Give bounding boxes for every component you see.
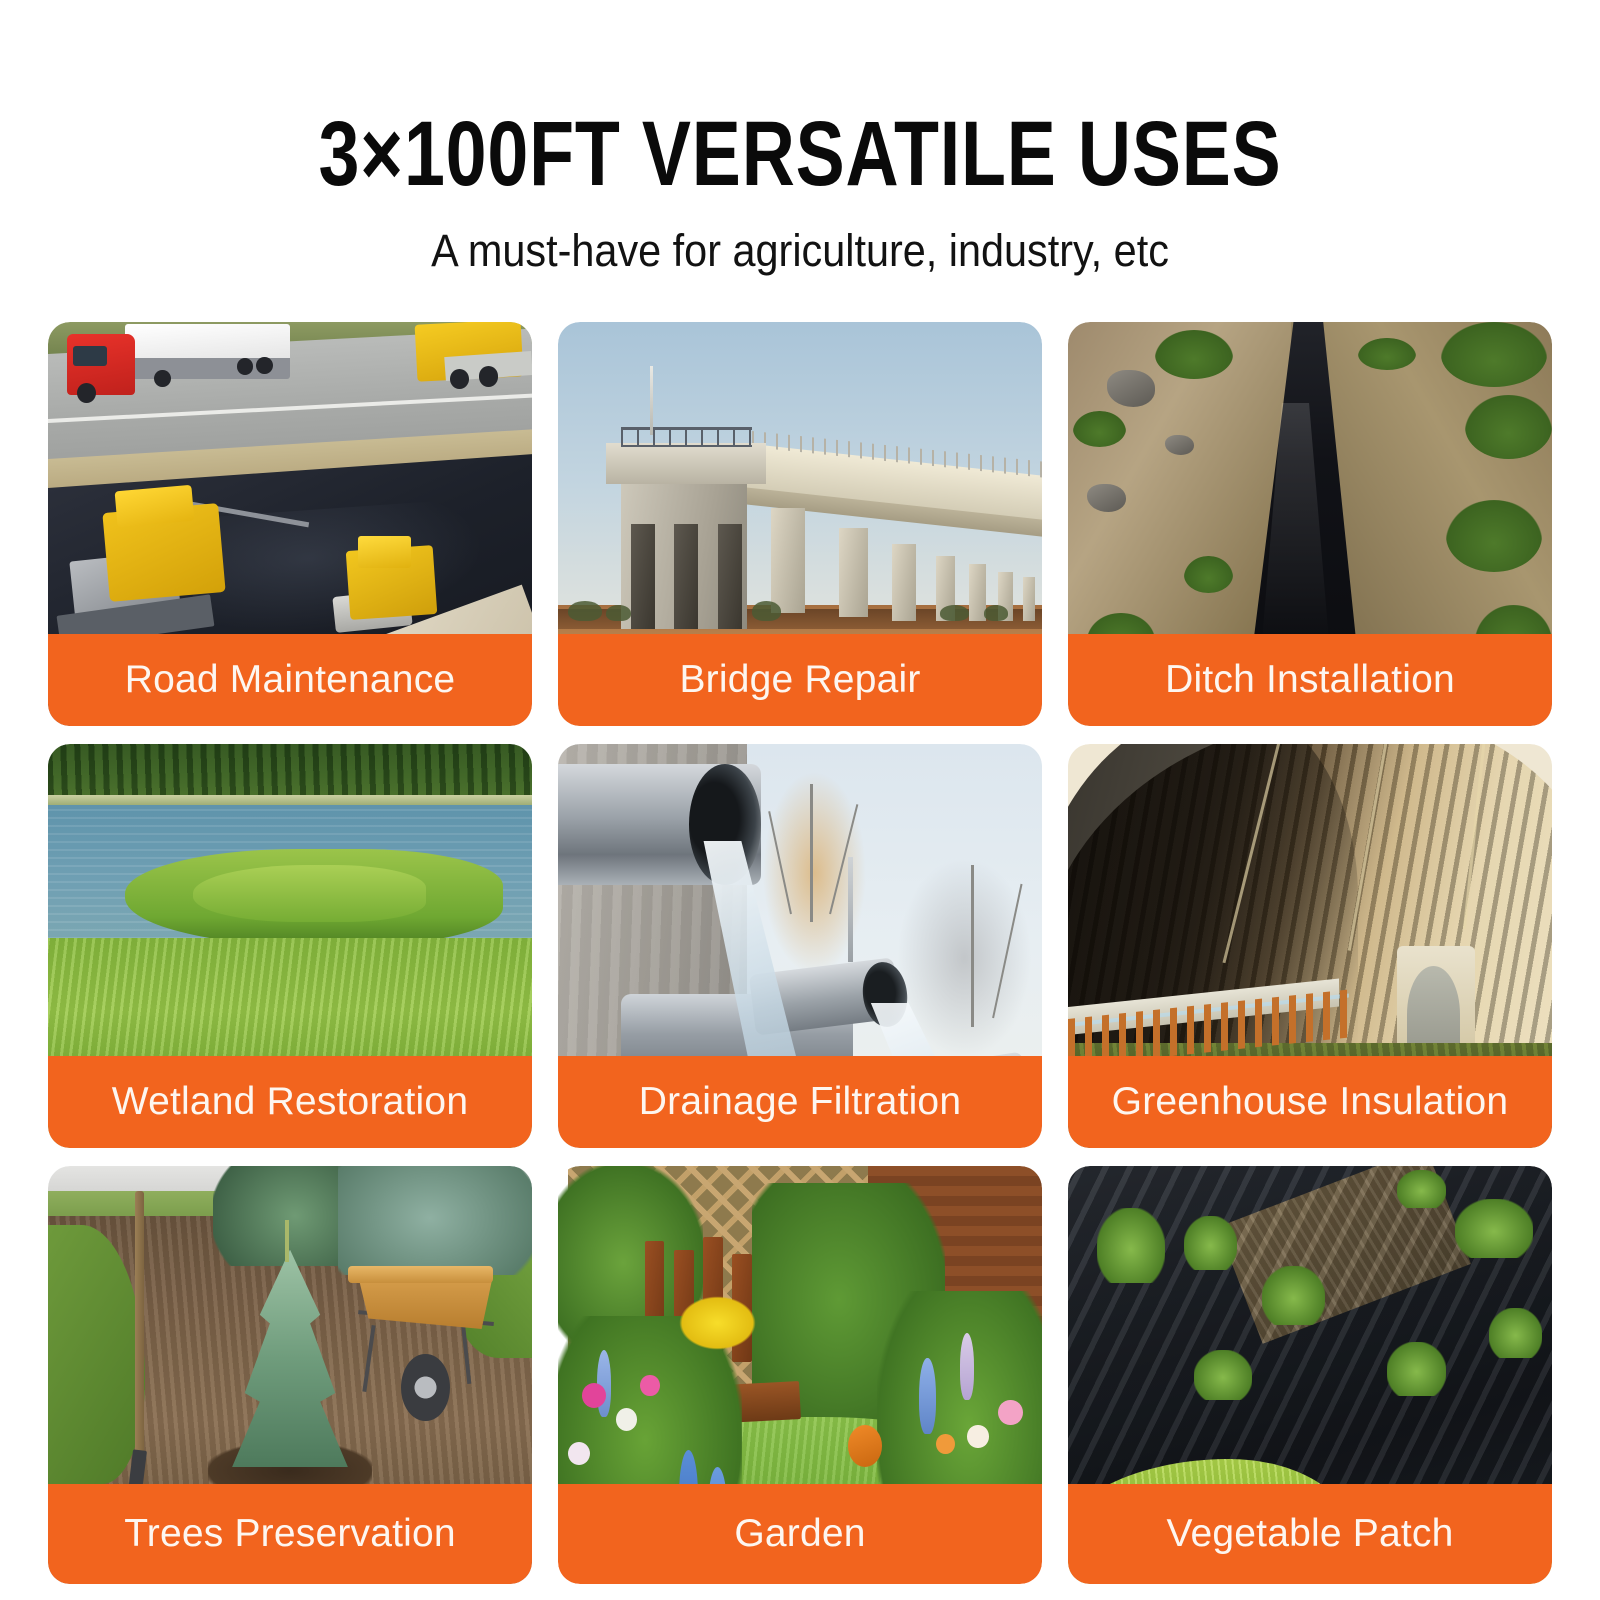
card-label: Greenhouse Insulation (1068, 1056, 1552, 1148)
header: 3×100FT VERSATILE USES A must-have for a… (0, 0, 1600, 276)
use-case-card-drainage-filtration[interactable]: Drainage Filtration (558, 744, 1042, 1148)
card-label: Vegetable Patch (1068, 1484, 1552, 1584)
infographic-page: 3×100FT VERSATILE USES A must-have for a… (0, 0, 1600, 1600)
card-label: Bridge Repair (558, 634, 1042, 726)
use-case-grid: Road Maintenance (48, 322, 1552, 1584)
use-case-card-road-maintenance[interactable]: Road Maintenance (48, 322, 532, 726)
use-case-card-garden[interactable]: Garden (558, 1166, 1042, 1584)
use-case-card-trees-preservation[interactable]: Trees Preservation (48, 1166, 532, 1584)
use-case-card-wetland-restoration[interactable]: Wetland Restoration (48, 744, 532, 1148)
use-case-card-greenhouse-insulation[interactable]: Greenhouse Insulation (1068, 744, 1552, 1148)
card-label: Road Maintenance (48, 634, 532, 726)
card-label: Wetland Restoration (48, 1056, 532, 1148)
use-case-card-bridge-repair[interactable]: Bridge Repair (558, 322, 1042, 726)
card-label: Trees Preservation (48, 1484, 532, 1584)
use-case-card-ditch-installation[interactable]: Ditch Installation (1068, 322, 1552, 726)
page-subtitle: A must-have for agriculture, industry, e… (64, 226, 1536, 276)
card-label: Drainage Filtration (558, 1056, 1042, 1148)
card-label: Garden (558, 1484, 1042, 1584)
page-title: 3×100FT VERSATILE USES (160, 108, 1440, 200)
use-case-card-vegetable-patch[interactable]: Vegetable Patch (1068, 1166, 1552, 1584)
card-label: Ditch Installation (1068, 634, 1552, 726)
